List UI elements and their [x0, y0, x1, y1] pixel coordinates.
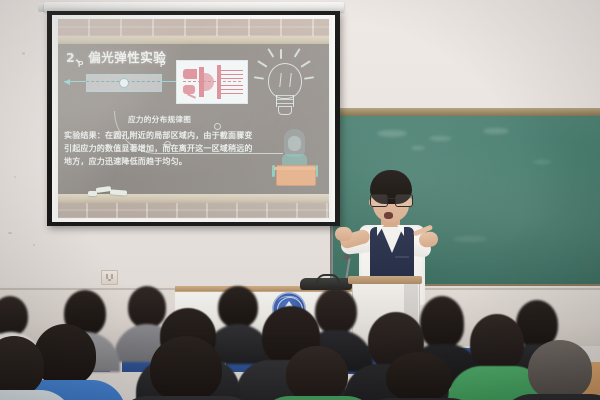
- force-arrow-left: [64, 81, 86, 82]
- microphone-icon: [343, 254, 350, 260]
- illustration-desk-top: [274, 167, 316, 170]
- student-desk-illustration: [272, 129, 318, 187]
- wall-speck: [8, 232, 12, 234]
- force-label-right: P: [160, 60, 165, 69]
- chalk-stick: [88, 191, 97, 196]
- podium-top: [348, 276, 422, 284]
- slide-brick-bottom: [58, 203, 329, 218]
- tension-specimen-diagram: P P: [64, 69, 182, 95]
- wall-speck: [33, 244, 35, 246]
- bag-handle-icon: [316, 274, 340, 284]
- slide-brick-top: [58, 19, 329, 36]
- wall-speck: [22, 52, 25, 55]
- slide-ledge-bottom: [58, 194, 329, 203]
- specimen-hole: [119, 78, 129, 88]
- lecturer-left-hand: [335, 227, 352, 241]
- projected-slide: 2、偏光弹性实验 P P: [58, 19, 329, 218]
- lightbulb-filament: [279, 73, 291, 87]
- lecturer-collar-right: [397, 225, 404, 236]
- stress-distribution-diagram: [176, 60, 248, 104]
- slide-body-text: 实验结果：在圆孔附近的局部区域内，由于截面骤变引起应力的数值显著增加，而在离开这…: [64, 129, 254, 168]
- illustration-face: [288, 136, 301, 151]
- glasses-icon: [370, 194, 412, 205]
- lecturer-vest-pocket: [395, 256, 409, 258]
- lecturer-mouth: [384, 212, 393, 219]
- force-label-left: P: [78, 60, 83, 69]
- slide-diagram-caption: 应力的分布规律图: [128, 114, 191, 125]
- slide-ledge-top: [58, 36, 329, 44]
- wall-speck: [14, 176, 16, 178]
- classroom-photo: 2、偏光弹性实验 P P: [0, 0, 600, 400]
- wall-power-outlet[interactable]: [101, 270, 118, 285]
- lightbulb-chalk-drawing: [254, 49, 316, 129]
- lecturer-collar-left: [377, 225, 384, 236]
